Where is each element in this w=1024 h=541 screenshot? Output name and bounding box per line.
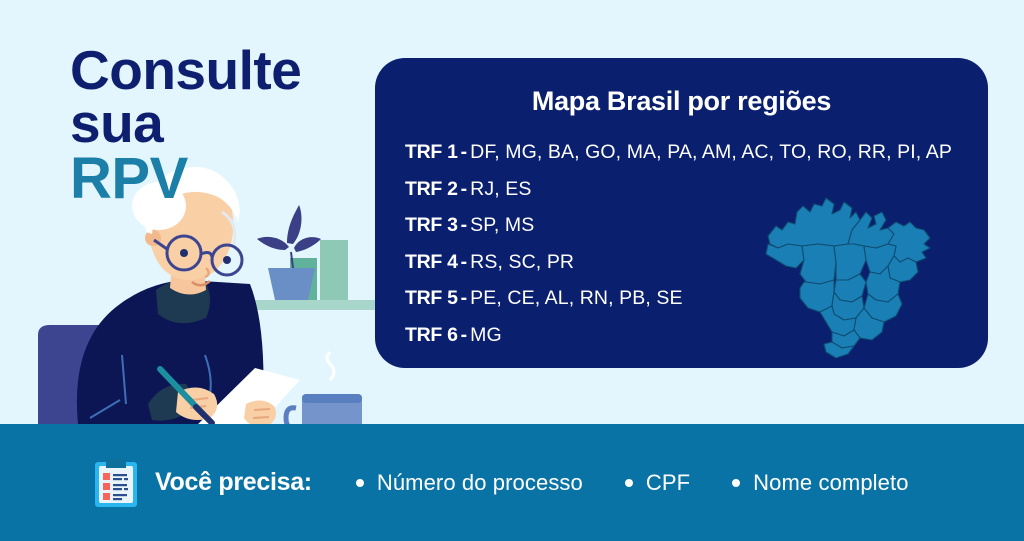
trf-dash: - [458,287,471,309]
trf-label: TRF 2 [405,178,458,200]
trf-dash: - [458,324,471,346]
table-row: TRF 4-RS, SC, PR [405,253,958,273]
list-item-label: Nome completo [753,470,908,496]
trf-label: TRF 1 [405,141,458,163]
table-row: TRF 5-PE, CE, AL, RN, PB, SE [405,289,958,309]
trf-states: PE, CE, AL, RN, PB, SE [470,287,682,309]
list-item-label: Número do processo [377,470,583,496]
bullet-icon [625,479,633,487]
list-item-label: CPF [646,470,690,496]
trf-states: RJ, ES [470,178,531,200]
trf-list: TRF 1-DF, MG, BA, GO, MA, PA, AM, AC, TO… [405,143,958,345]
table-row: TRF 6-MG [405,326,958,346]
headline-line-1: Consulte [70,44,301,97]
headline-line-3: RPV [70,151,301,207]
list-item: Nome completo [732,470,908,496]
trf-dash: - [458,178,471,200]
trf-dash: - [458,214,471,236]
trf-states: SP, MS [470,214,534,236]
bullet-icon [732,479,740,487]
table-row: TRF 1-DF, MG, BA, GO, MA, PA, AM, AC, TO… [405,143,958,163]
eye-left [180,249,188,257]
regions-card: Mapa Brasil por regiões TRF 1-DF, MG, BA… [375,58,988,368]
table-row: TRF 3-SP, MS [405,216,958,236]
plant-pot [268,268,315,305]
clipboard-checklist-icon [94,458,138,508]
shelf-board [250,300,380,310]
bullet-icon [356,479,364,487]
table-row: TRF 2-RJ, ES [405,180,958,200]
trf-label: TRF 6 [405,324,458,346]
trf-dash: - [458,141,471,163]
trf-label: TRF 4 [405,251,458,273]
list-item: CPF [625,470,690,496]
page-title: Consulte sua RPV [70,44,301,207]
trf-label: TRF 5 [405,287,458,309]
finger-line-3 [254,409,270,410]
shelf-bar-tall [320,240,348,307]
list-item: Número do processo [356,470,583,496]
trf-states: MG [470,324,502,346]
mug-rim [302,394,362,403]
headline-line-2: sua [70,97,301,150]
requirements-bar: Você precisa: Número do processo CPF Nom… [0,424,1024,541]
requirements-list: Número do processo CPF Nome completo [356,470,951,496]
trf-states: RS, SC, PR [470,251,574,273]
card-title: Mapa Brasil por regiões [405,86,958,117]
eye-right [223,256,231,264]
trf-label: TRF 3 [405,214,458,236]
trf-dash: - [458,251,471,273]
trf-states: DF, MG, BA, GO, MA, PA, AM, AC, TO, RO, … [470,141,952,163]
requirements-label: Você precisa: [155,468,312,497]
finger-line-4 [253,417,269,418]
